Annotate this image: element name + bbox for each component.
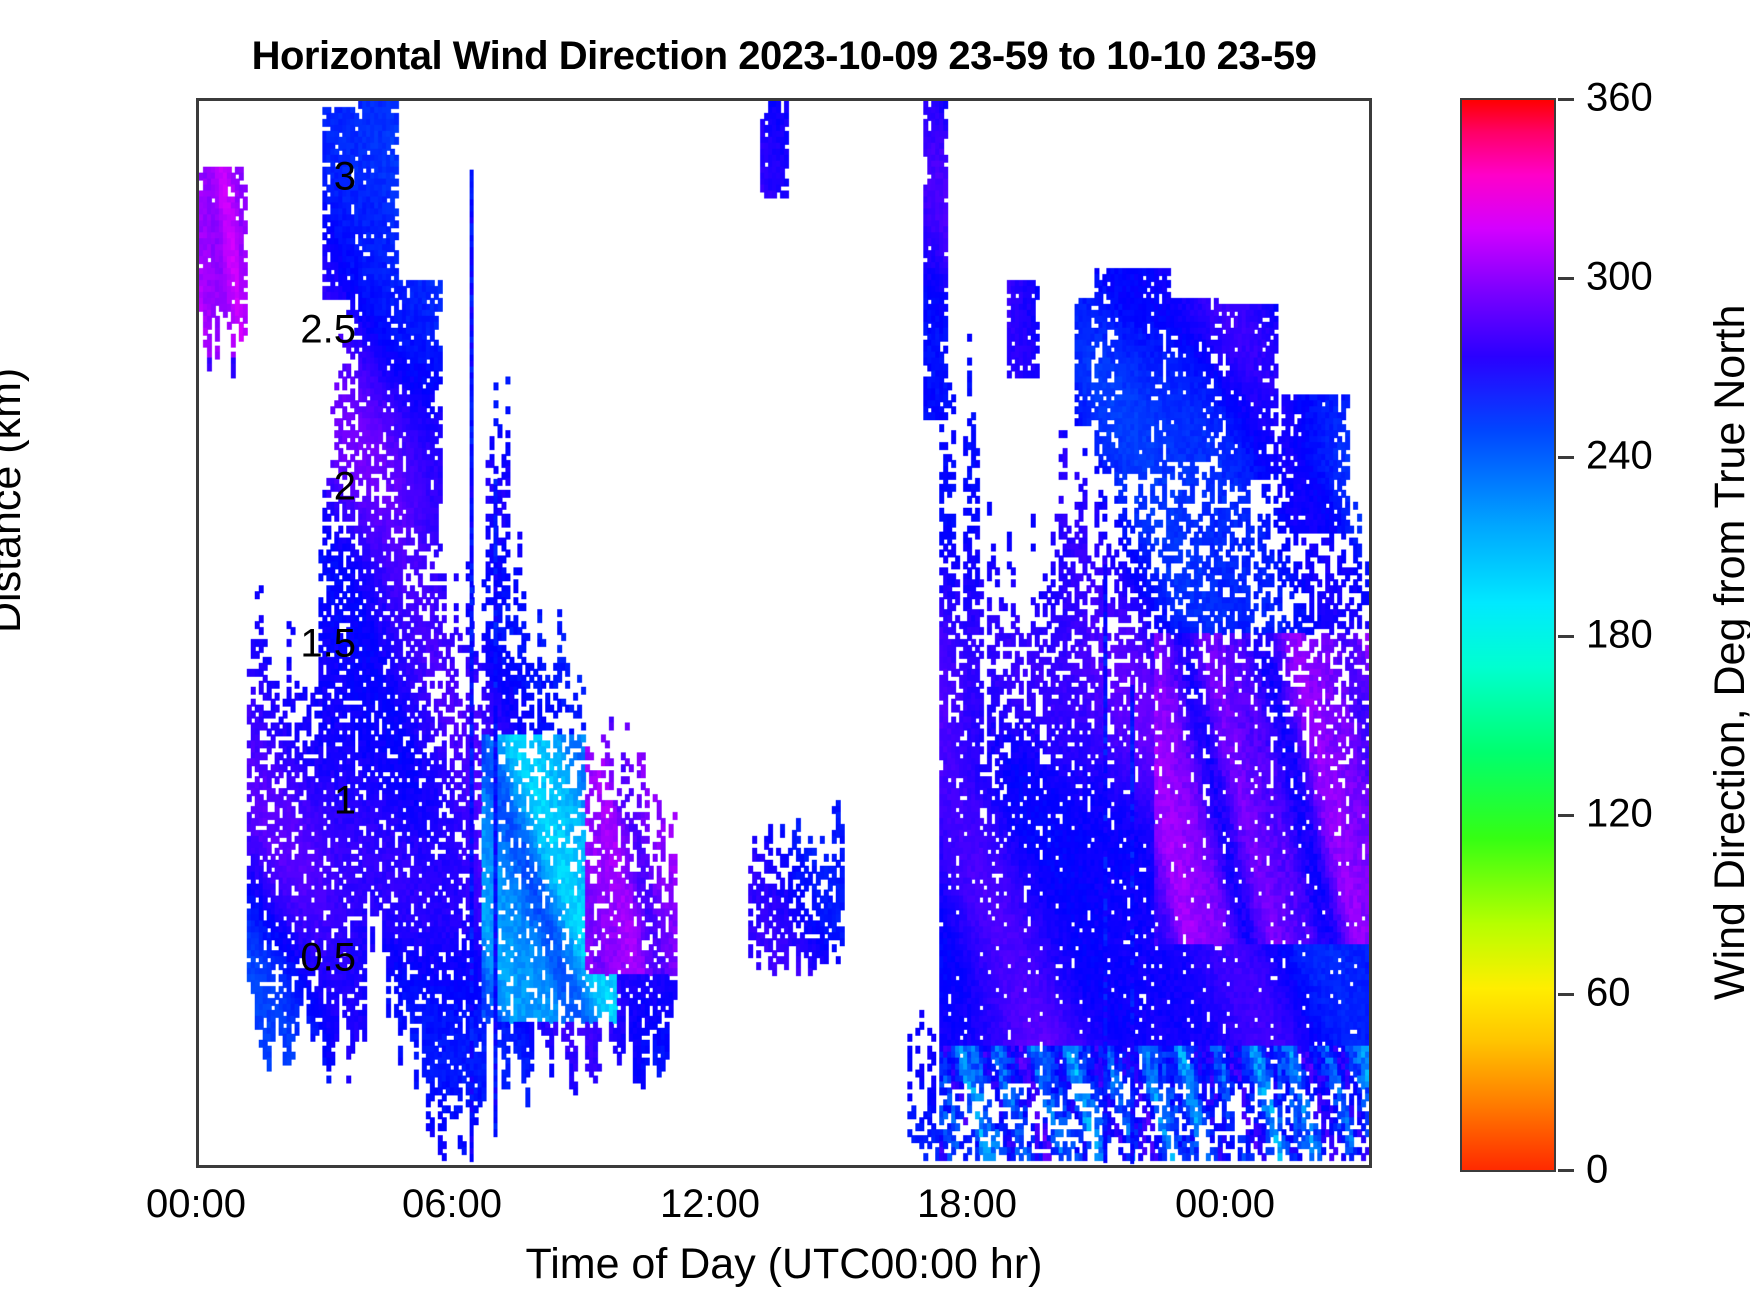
y-tick-1 <box>196 804 199 807</box>
x-tick-0600 <box>455 1165 458 1168</box>
y-tick-3-right <box>1369 180 1372 183</box>
y-tick-2_5-right <box>1369 333 1372 336</box>
y-tick-label-1_5: 1.5 <box>300 622 356 667</box>
plot-axes[interactable] <box>196 98 1372 1168</box>
colorbar-tick-120 <box>1558 814 1574 817</box>
x-tick-2400 <box>1228 1165 1231 1168</box>
y-tick-label-1: 1 <box>334 779 356 824</box>
x-tick-0000 <box>199 1165 202 1168</box>
colorbar-tick-180 <box>1558 635 1574 638</box>
y-tick-2-right <box>1369 490 1372 493</box>
colorbar-label-180: 180 <box>1586 613 1653 658</box>
x-tick-1800-top <box>970 98 973 101</box>
y-tick-0_5 <box>196 961 199 964</box>
x-tick-label-1200: 12:00 <box>660 1182 760 1227</box>
colorbar[interactable] <box>1460 98 1556 1172</box>
figure-canvas: Horizontal Wind Direction 2023-10-09 23-… <box>0 0 1750 1313</box>
colorbar-label-240: 240 <box>1586 434 1653 479</box>
x-tick-1200 <box>713 1165 716 1168</box>
y-tick-label-3: 3 <box>334 155 356 200</box>
y-tick-1_5-right <box>1369 647 1372 650</box>
y-tick-label-0_5: 0.5 <box>300 936 356 981</box>
colorbar-axis-label: Wind Direction, Deg from True North <box>1706 305 1750 1000</box>
x-tick-2400-top <box>1228 98 1231 101</box>
colorbar-label-0: 0 <box>1586 1148 1608 1193</box>
colorbar-tick-360 <box>1558 98 1574 101</box>
colorbar-tick-300 <box>1558 277 1574 280</box>
y-tick-2_5 <box>196 333 199 336</box>
y-tick-1_5 <box>196 647 199 650</box>
x-tick-0600-top <box>455 98 458 101</box>
y-tick-label-2: 2 <box>334 465 356 510</box>
colorbar-label-360: 360 <box>1586 76 1653 121</box>
colorbar-tick-60 <box>1558 993 1574 996</box>
wind-direction-heatmap <box>199 101 1369 1165</box>
colorbar-tick-0 <box>1558 1169 1574 1172</box>
x-tick-1800 <box>970 1165 973 1168</box>
y-tick-3 <box>196 180 199 183</box>
y-tick-label-2_5: 2.5 <box>300 308 356 353</box>
y-axis-label: Distance (km) <box>0 368 31 633</box>
page-title: Horizontal Wind Direction 2023-10-09 23-… <box>196 34 1372 79</box>
y-tick-0_5-right <box>1369 961 1372 964</box>
y-tick-2 <box>196 490 199 493</box>
colorbar-label-120: 120 <box>1586 792 1653 837</box>
x-axis-label: Time of Day (UTC00:00 hr) <box>196 1240 1372 1289</box>
x-tick-label-0000: 00:00 <box>146 1182 246 1227</box>
colorbar-label-300: 300 <box>1586 255 1653 300</box>
x-tick-label-2400: 00:00 <box>1175 1182 1275 1227</box>
colorbar-label-60: 60 <box>1586 971 1631 1016</box>
colorbar-tick-240 <box>1558 456 1574 459</box>
x-tick-label-0600: 06:00 <box>402 1182 502 1227</box>
x-tick-label-1800: 18:00 <box>917 1182 1017 1227</box>
x-tick-1200-top <box>713 98 716 101</box>
y-tick-1-right <box>1369 804 1372 807</box>
x-tick-0000-top <box>199 98 202 101</box>
